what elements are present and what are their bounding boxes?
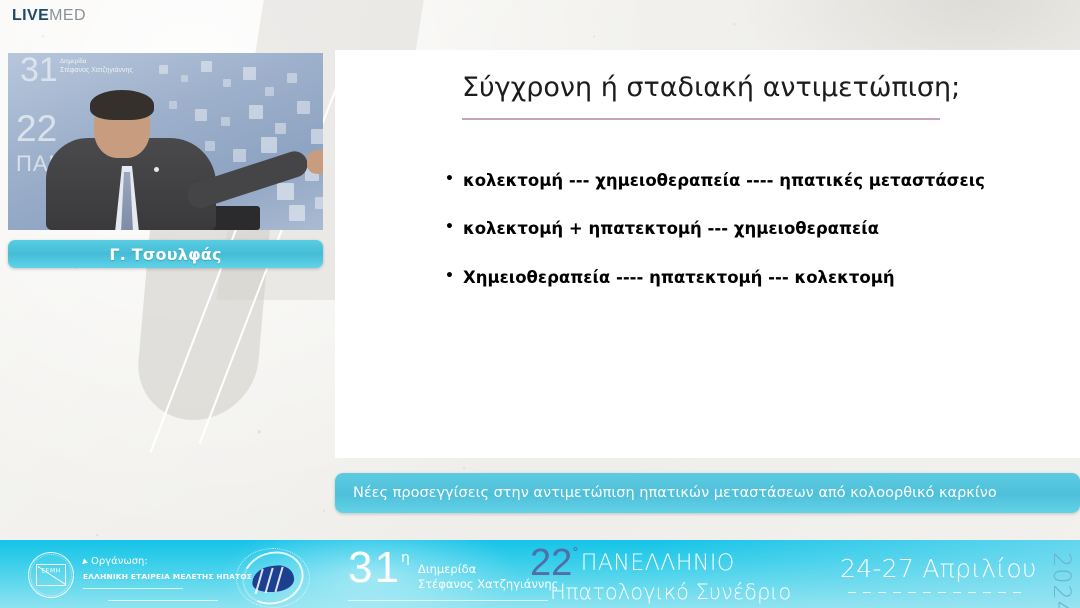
organizer-label: Οργάνωση: (91, 556, 148, 567)
liver-stripe-1 (255, 569, 264, 595)
organizer-block: Οργάνωση: ΕΛΛΗΝΙΚΗ ΕΤΑΙΡΕΙΑ ΜΕΛΕΤΗΣ ΗΠΑΤ… (83, 556, 223, 581)
speaker-name-label: Γ. Τσουλφάς (109, 245, 221, 264)
bullet-marker-icon: • (445, 218, 463, 237)
speaker-lapel-badge (154, 167, 159, 172)
dates-dashed-rule (848, 592, 1024, 593)
slide-bullet-list: • κολεκτομή --- χημειοθεραπεία ---- ηπατ… (445, 170, 985, 315)
conf22-line-1: ΠΑΝΕΛΛΗΝΙΟ (581, 551, 735, 576)
presentation-viewer: LIVEMED 31 Διημερίδα Στέφανος Χατζηγιάνν… (0, 0, 1080, 608)
conference-dates: 24-27 Απριλίου (840, 554, 1037, 583)
backdrop-subtitle-2: Στέφανος Χατζηγιάννης (60, 67, 133, 74)
session-title-bar: Νέες προσεγγίσεις στην αντιμετώπιση ηπατ… (335, 473, 1080, 513)
list-item: • Χημειοθεραπεία ---- ηπατεκτομή --- κολ… (445, 267, 985, 289)
bullet-text: κολεκτομή + ηπατεκτομή --- χημειοθεραπεί… (463, 218, 985, 240)
session-title-text: Νέες προσεγγίσεις στην αντιμετώπιση ηπατ… (353, 485, 997, 501)
conf31-superscript: η (401, 550, 410, 566)
slide-title: Σύγχρονη ή σταδιακή αντιμετώπιση; (462, 72, 960, 103)
speaker-figure (36, 90, 251, 230)
bullet-marker-icon: • (445, 170, 463, 189)
logo-med-text: MED (49, 7, 86, 24)
backdrop-31-text: 31 (20, 53, 58, 90)
liver-stripe-3 (275, 567, 284, 593)
logo-live-text: LIVE (12, 7, 49, 24)
conference-footer: ΕΕΜΗ Οργάνωση: ΕΛΛΗΝΙΚΗ ΕΤΑΙΡΕΙΑ ΜΕΛΕΤΗΣ… (0, 540, 1080, 608)
conf22-degree-symbol: ° (572, 546, 579, 561)
speaker-hair (90, 90, 154, 120)
organizer-name: ΕΛΛΗΝΙΚΗ ΕΤΑΙΡΕΙΑ ΜΕΛΕΤΗΣ ΗΠΑΤΟΣ (83, 572, 223, 581)
liver-stripe-2 (265, 568, 274, 594)
conf22-row: 22 ° ΠΑΝΕΛΛΗΝΙΟ (530, 544, 791, 582)
speaker-hand (307, 150, 323, 174)
conf22-number: 22 (530, 544, 572, 582)
conf22-line-2: Ηπατολογικό Συνέδριο (550, 580, 791, 604)
organizer-rule-2 (108, 600, 218, 601)
eemh-society-logo: ΕΕΜΗ (28, 552, 74, 598)
conference-dates-block: 24-27 Απριλίου (840, 554, 1037, 583)
organizer-rule-1 (83, 588, 183, 589)
conf31-number: 31 (348, 546, 401, 590)
speaker-video[interactable]: 31 Διημερίδα Στέφανος Χατζηγιάννης 22 ΠΑ… (8, 53, 323, 230)
bullet-text: κολεκτομή --- χημειοθεραπεία ---- ηπατικ… (463, 170, 985, 192)
conference-year: 2024 (1048, 552, 1076, 608)
conference-31-block: 31 η Διημερίδα Στέφανος Χατζηγιάννης (348, 546, 558, 591)
livemed-logo[interactable]: LIVEMED (12, 8, 86, 24)
slide-panel: Σύγχρονη ή σταδιακή αντιμετώπιση; • κολε… (335, 50, 1080, 458)
speaker-name-badge: Γ. Τσουλφάς (8, 240, 323, 268)
list-item: • κολεκτομή --- χημειοθεραπεία ---- ηπατ… (445, 170, 985, 192)
conference-22-block: 22 ° ΠΑΝΕΛΛΗΝΙΟ Ηπατολογικό Συνέδριο (530, 544, 791, 604)
logo-acronym: ΕΕΜΗ (41, 568, 60, 575)
bullet-text: Χημειοθεραπεία ---- ηπατεκτομή --- κολεκ… (463, 267, 985, 289)
liver-icon (232, 548, 338, 608)
title-underline (462, 118, 940, 120)
conf31-rule (348, 600, 548, 601)
backdrop-subtitle-1: Διημερίδα (60, 59, 86, 65)
organizer-label-row: Οργάνωση: (83, 556, 223, 567)
list-item: • κολεκτομή + ηπατεκτομή --- χημειοθεραπ… (445, 218, 985, 240)
arrow-right-icon (82, 558, 89, 565)
bullet-marker-icon: • (445, 267, 463, 286)
